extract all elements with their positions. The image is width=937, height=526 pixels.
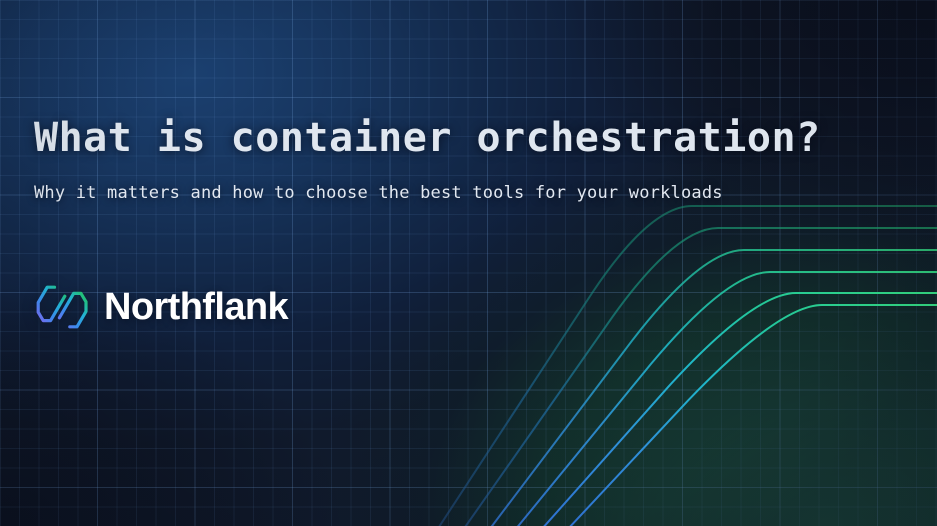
brand-logo[interactable]: Northflank — [34, 283, 288, 331]
pipe-3 — [489, 250, 937, 526]
pipe-6 — [567, 305, 937, 526]
brand-wordmark: Northflank — [104, 288, 288, 326]
pipe-5 — [541, 293, 937, 526]
page-title: What is container orchestration? — [34, 112, 821, 164]
northflank-interlocking-n-icon — [34, 283, 90, 331]
hero-canvas: What is container orchestration? Why it … — [0, 0, 937, 526]
page-subtitle: Why it matters and how to choose the bes… — [34, 180, 724, 206]
pipeline-curves-graphic — [0, 0, 937, 526]
